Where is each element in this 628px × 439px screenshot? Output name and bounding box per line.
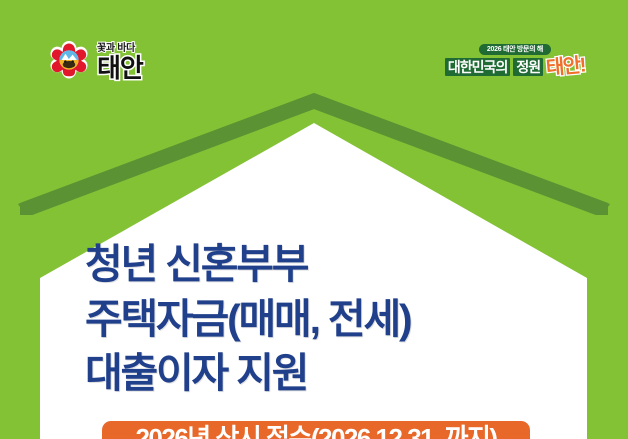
slogan-year-pill: 2026 태안 방문의 해 bbox=[479, 44, 551, 55]
taean-logo: 꽃과 바다 태안 bbox=[46, 36, 156, 88]
slogan-box-1: 대한민국의 bbox=[445, 58, 510, 76]
house-roof-shape bbox=[0, 85, 628, 215]
application-period-text: 2026년 상시 접수(2026.12.31. 까지) bbox=[102, 425, 530, 439]
headline-line-3: 대출이자 지원 bbox=[85, 346, 565, 401]
slogan-main-row: 대한민국의 정원 태안! bbox=[445, 57, 585, 77]
poster-root: 꽃과 바다 태안 2026 태안 방문의 해 대한민국의 정원 태안! 청년 신… bbox=[0, 0, 628, 439]
slogan-accent-taean: 태안! bbox=[545, 55, 586, 78]
headline-line-1: 청년 신혼부부 bbox=[85, 237, 565, 292]
logo-subtitle: 꽃과 바다 bbox=[97, 44, 143, 54]
headline-block: 청년 신혼부부 주택자금(매매, 전세) 대출이자 지원 bbox=[85, 237, 565, 401]
headline-line-2: 주택자금(매매, 전세) bbox=[85, 292, 565, 347]
slogan-box-2: 정원 bbox=[513, 58, 543, 76]
logo-title: 태안 bbox=[97, 55, 143, 81]
taean-flower-emblem-icon bbox=[46, 39, 92, 85]
campaign-slogan-badge: 2026 태안 방문의 해 대한민국의 정원 태안! bbox=[434, 44, 596, 84]
logo-wordmark: 꽃과 바다 태안 bbox=[97, 44, 143, 81]
application-period-banner: 2026년 상시 접수(2026.12.31. 까지) bbox=[102, 421, 530, 439]
